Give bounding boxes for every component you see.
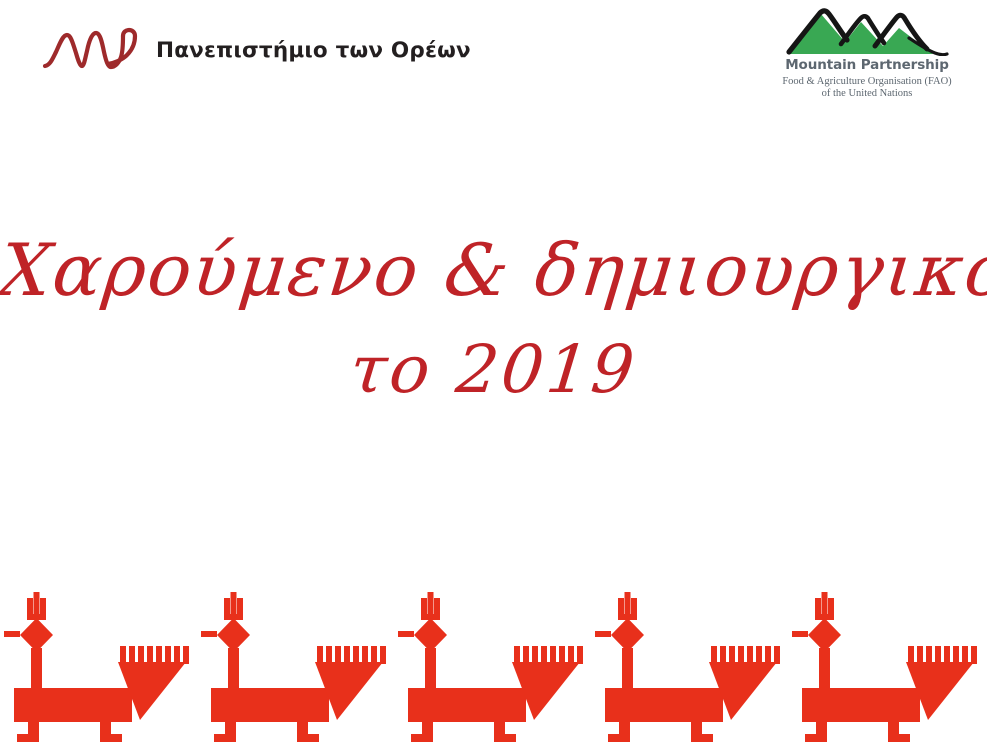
folk-rooster-icon — [197, 590, 394, 742]
mountain-squiggle-icon — [42, 26, 146, 74]
university-name: Πανεπιστήμιο των Ορέων — [156, 38, 471, 63]
partnership-subtitle: Food & Agriculture Organisation (FAO) of… — [769, 76, 965, 102]
headline-line-1: Χαρούμενο & δημιουργικό — [0, 222, 987, 318]
headline-block: Χαρούμενο & δημιουργικό το 2019 — [0, 222, 987, 416]
university-logo: Πανεπιστήμιο των Ορέων — [42, 26, 471, 74]
headline-line-2: το 2019 — [0, 324, 987, 416]
folk-rooster-icon — [788, 590, 985, 742]
folk-rooster-icon — [591, 590, 788, 742]
slide-canvas: Πανεπιστήμιο των Ορέων Mountain Partners… — [0, 0, 987, 742]
folk-rooster-icon — [394, 590, 591, 742]
green-mountain-peaks-icon — [769, 8, 965, 56]
folk-rooster-icon — [0, 590, 197, 742]
partnership-wordmark: Mountain Partnership — [769, 58, 965, 74]
mountain-partnership-logo: Mountain Partnership Food & Agriculture … — [769, 8, 965, 101]
bird-border — [0, 584, 987, 742]
